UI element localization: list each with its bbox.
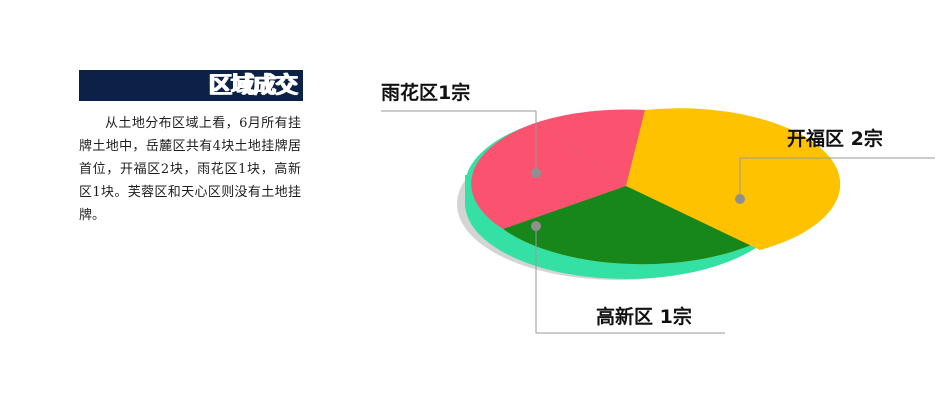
leader-dot-yuhua: [531, 168, 541, 178]
pie-label-kaifu: 开福区 2宗: [787, 130, 883, 149]
infographic-canvas: 区域成交 从土地分布区域上看，6月所有挂牌土地中，岳麓区共有4块土地挂牌居首位，…: [0, 0, 940, 409]
leader-dot-gaoxin: [531, 221, 541, 231]
article-block: 区域成交 从土地分布区域上看，6月所有挂牌土地中，岳麓区共有4块土地挂牌居首位，…: [79, 70, 303, 227]
pie-label-yuhua: 雨花区1宗: [381, 84, 470, 103]
page-title: 区域成交: [209, 74, 297, 97]
leader-dot-kaifu: [735, 194, 745, 204]
headline-banner: 区域成交: [79, 70, 303, 101]
pie-label-gaoxin: 高新区 1宗: [596, 308, 692, 327]
article-body-text: 从土地分布区域上看，6月所有挂牌土地中，岳麓区共有4块土地挂牌居首位，开福区2块…: [79, 112, 301, 227]
